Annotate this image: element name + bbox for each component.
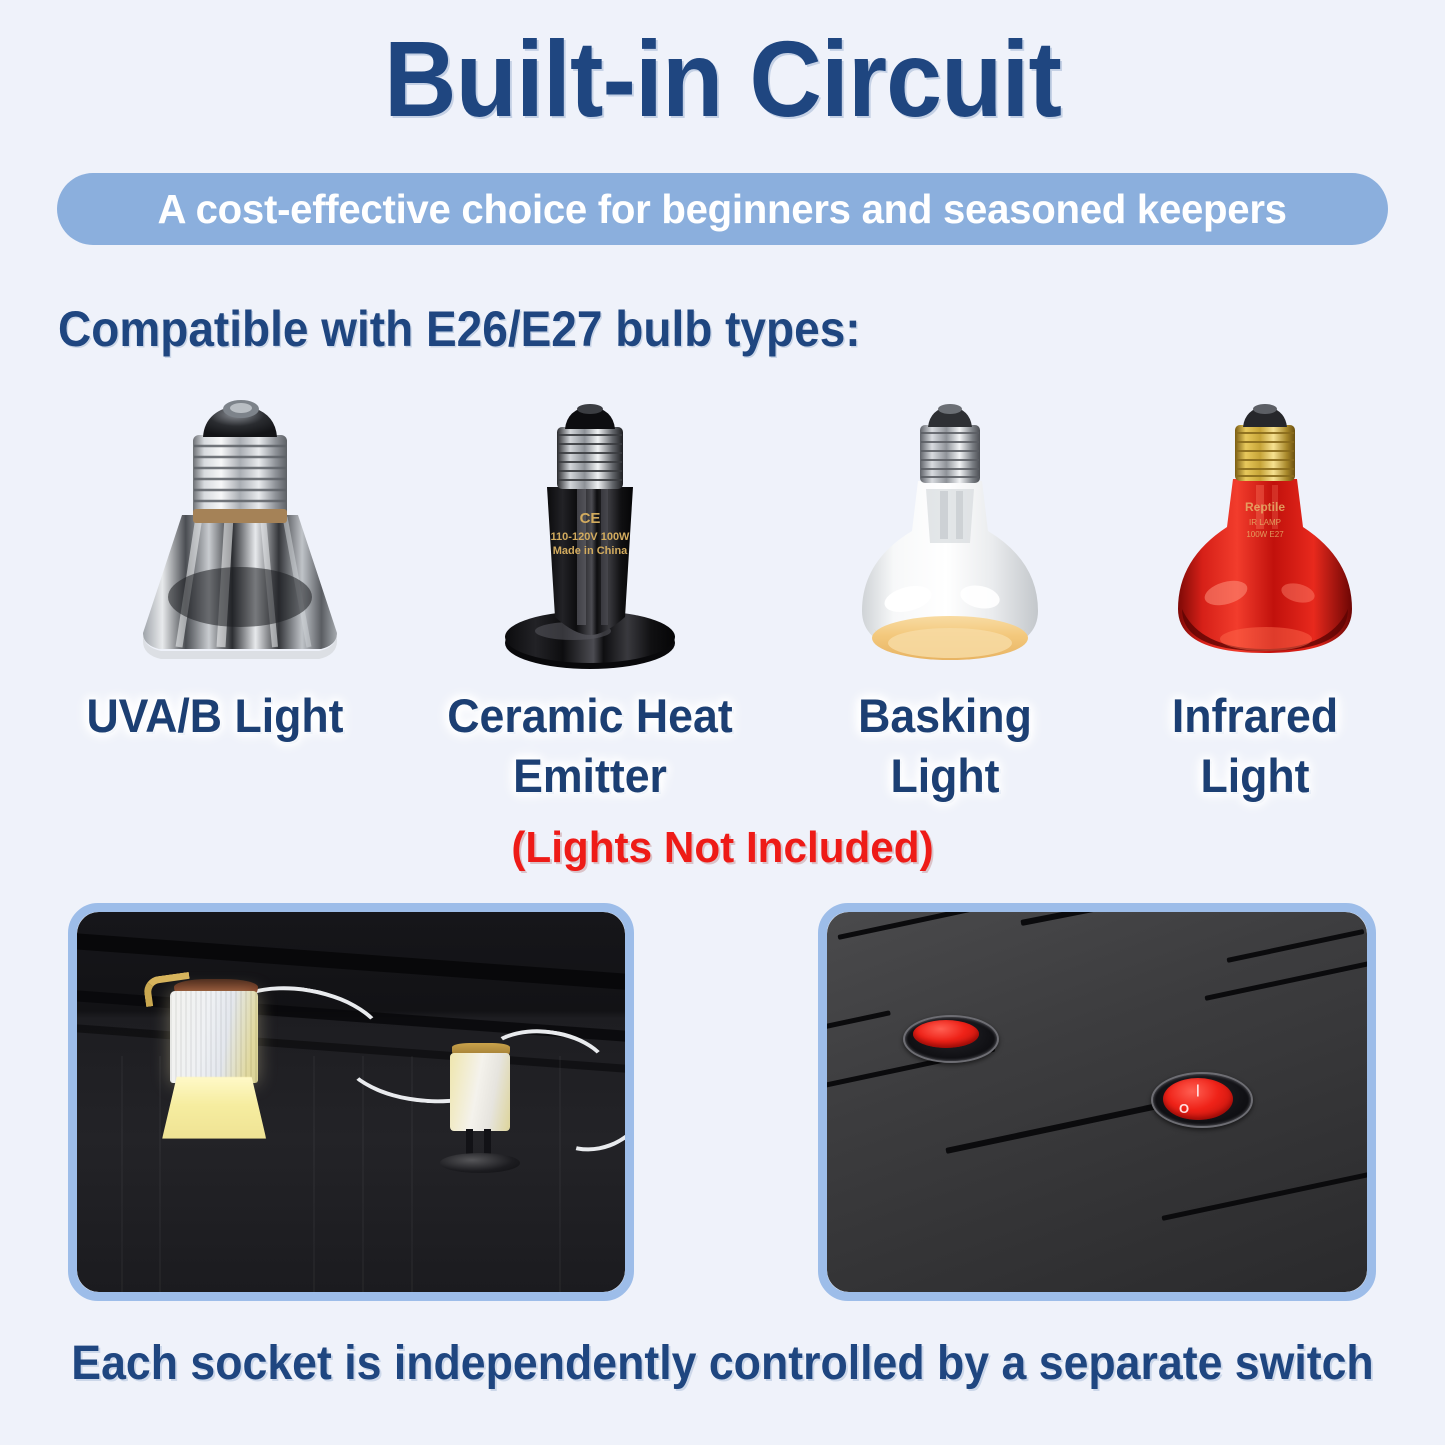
bulb-label-row: UVA/B Light Ceramic Heat Emitter Basking… — [0, 686, 1445, 816]
switch-panel-scene: | O — [827, 912, 1367, 1292]
switch-on-mark: | — [1196, 1083, 1200, 1096]
svg-text:CE: CE — [580, 510, 601, 527]
page-title: Built-in Circuit — [51, 22, 1395, 135]
svg-text:IR LAMP: IR LAMP — [1249, 518, 1281, 527]
rocker-switch-right[interactable]: | O — [1151, 1072, 1253, 1128]
installed-sockets-photo — [68, 903, 634, 1301]
rocker-switch-left[interactable] — [903, 1015, 999, 1063]
svg-text:Made in China: Made in China — [553, 545, 628, 557]
svg-text:Reptile: Reptile — [1245, 500, 1285, 514]
socket-body — [170, 991, 258, 1083]
svg-text:100W E27: 100W E27 — [1246, 530, 1284, 539]
bulb-label-ceramic: Ceramic Heat Emitter — [419, 686, 761, 806]
lamp-socket-unlit — [450, 1045, 512, 1165]
frosted-reflector-bulb-icon — [852, 403, 1048, 675]
lights-not-included-note: (Lights Not Included) — [29, 823, 1416, 873]
socket-scene — [77, 912, 625, 1292]
bulb-image-basking-light — [790, 385, 1110, 675]
red-infrared-bulb-icon: Reptile IR LAMP 100W E27 — [1170, 403, 1360, 675]
socket-base-plate — [440, 1153, 520, 1173]
subtitle-text: A cost-effective choice for beginners an… — [158, 186, 1287, 233]
bulb-image-infrared-light: Reptile IR LAMP 100W E27 — [1115, 385, 1415, 675]
footer-caption: Each socket is independently controlled … — [51, 1336, 1395, 1391]
bulb-type-row: CE 110-120V 100W Made in China — [0, 385, 1445, 675]
bulb-image-ceramic-heat-emitter: CE 110-120V 100W Made in China — [425, 385, 755, 675]
rocker-switches-photo: | O — [818, 903, 1376, 1301]
bulb-image-uva-b — [60, 385, 420, 675]
halogen-reflector-bulb-icon — [125, 397, 355, 675]
subtitle-banner: A cost-effective choice for beginners an… — [57, 173, 1388, 245]
lamp-glow — [162, 1077, 266, 1139]
bulb-label-basking: Basking Light — [807, 686, 1083, 806]
lamp-socket-lit — [170, 977, 258, 1107]
bulb-label-infrared: Infrared Light — [1117, 686, 1393, 806]
compatibility-heading: Compatible with E26/E27 bulb types: — [58, 300, 861, 358]
svg-text:110-120V 100W: 110-120V 100W — [551, 531, 631, 543]
socket-body — [450, 1053, 510, 1131]
ceramic-heat-emitter-icon: CE 110-120V 100W Made in China — [485, 403, 695, 675]
bulb-label-uva-b: UVA/B Light — [44, 686, 386, 746]
switch-off-mark: O — [1179, 1102, 1189, 1115]
rocker-switch-cap[interactable] — [913, 1020, 979, 1048]
